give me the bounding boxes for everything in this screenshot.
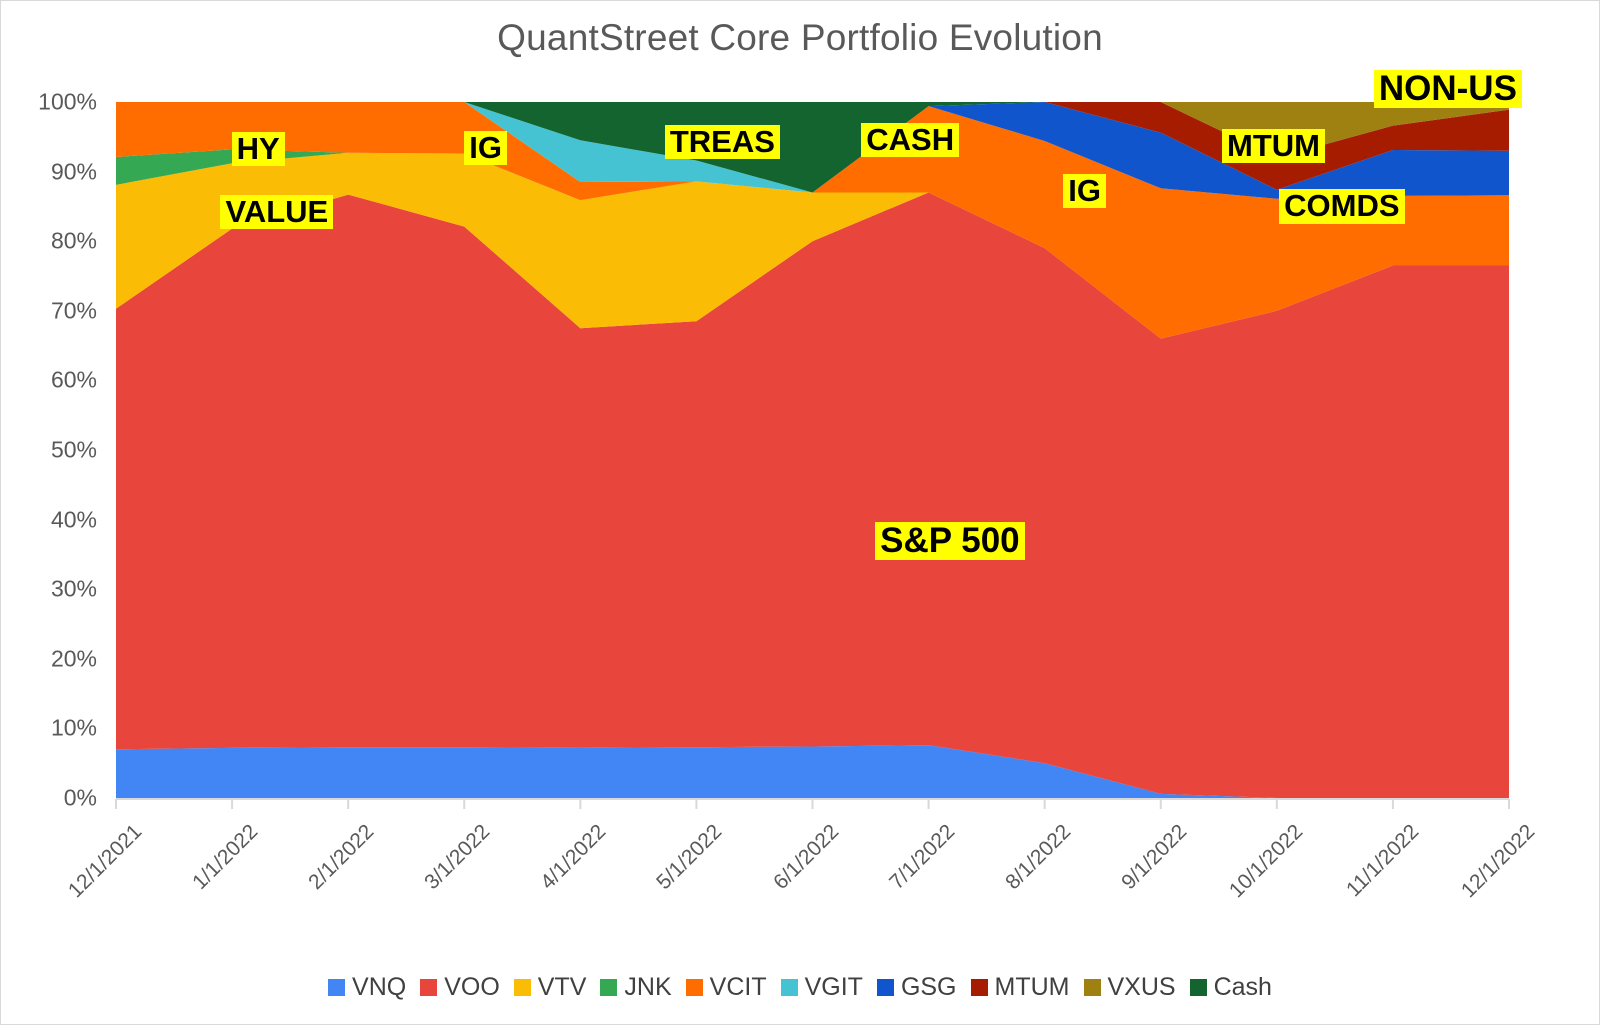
legend-swatch-icon bbox=[781, 979, 798, 996]
legend-label: VNQ bbox=[352, 973, 406, 1002]
annotation-s-p-500: S&P 500 bbox=[875, 522, 1024, 560]
annotation-value: VALUE bbox=[220, 195, 333, 229]
legend-item-vcit[interactable]: VCIT bbox=[686, 973, 767, 1002]
legend-item-voo[interactable]: VOO bbox=[420, 973, 500, 1002]
annotation-non-us: NON-US bbox=[1374, 70, 1522, 108]
legend-label: GSG bbox=[901, 973, 957, 1002]
legend-label: JNK bbox=[624, 973, 671, 1002]
legend-swatch-icon bbox=[1190, 979, 1207, 996]
legend-swatch-icon bbox=[971, 979, 988, 996]
annotation-ig: IG bbox=[464, 131, 507, 165]
chart-frame: QuantStreet Core Portfolio Evolution 0%1… bbox=[0, 0, 1600, 1025]
legend-swatch-icon bbox=[686, 979, 703, 996]
annotation-cash: CASH bbox=[861, 123, 959, 157]
legend-label: VGIT bbox=[805, 973, 863, 1002]
legend-item-vgit[interactable]: VGIT bbox=[781, 973, 863, 1002]
legend: VNQVOOVTVJNKVCITVGITGSGMTUMVXUSCash bbox=[1, 973, 1599, 1002]
legend-label: VCIT bbox=[710, 973, 767, 1002]
annotation-comds: COMDS bbox=[1279, 189, 1404, 223]
legend-label: MTUM bbox=[995, 973, 1070, 1002]
annotation-ig: IG bbox=[1063, 174, 1106, 208]
legend-label: Cash bbox=[1214, 973, 1272, 1002]
legend-label: VXUS bbox=[1108, 973, 1176, 1002]
legend-item-vnq[interactable]: VNQ bbox=[328, 973, 406, 1002]
legend-swatch-icon bbox=[514, 979, 531, 996]
legend-item-cash[interactable]: Cash bbox=[1190, 973, 1272, 1002]
legend-swatch-icon bbox=[877, 979, 894, 996]
legend-item-gsg[interactable]: GSG bbox=[877, 973, 957, 1002]
legend-swatch-icon bbox=[420, 979, 437, 996]
legend-swatch-icon bbox=[1084, 979, 1101, 996]
annotation-mtum: MTUM bbox=[1222, 129, 1325, 163]
legend-label: VTV bbox=[538, 973, 587, 1002]
annotation-treas: TREAS bbox=[665, 125, 780, 159]
annotation-hy: HY bbox=[232, 132, 285, 166]
legend-swatch-icon bbox=[328, 979, 345, 996]
legend-swatch-icon bbox=[600, 979, 617, 996]
legend-item-vxus[interactable]: VXUS bbox=[1084, 973, 1176, 1002]
legend-item-vtv[interactable]: VTV bbox=[514, 973, 587, 1002]
legend-label: VOO bbox=[444, 973, 500, 1002]
legend-item-jnk[interactable]: JNK bbox=[600, 973, 671, 1002]
legend-item-mtum[interactable]: MTUM bbox=[971, 973, 1070, 1002]
